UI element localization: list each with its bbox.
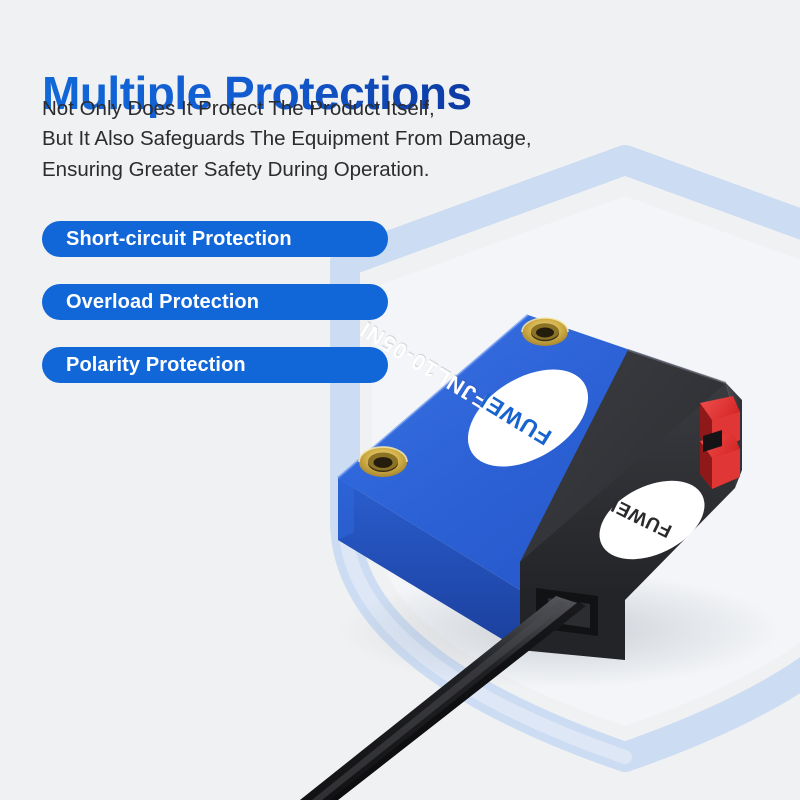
- feature-pill-label: Polarity Protection: [66, 354, 246, 377]
- feature-pill-list: Short-circuit Protection Overload Protec…: [42, 221, 388, 383]
- feature-pill-label: Overload Protection: [66, 291, 259, 314]
- subtitle-line-1: Not Only Does It Protect The Product Its…: [42, 94, 702, 124]
- product-brand-top-label: FUWEI: [475, 386, 557, 450]
- terminal-block-1: [700, 396, 740, 452]
- product-brand-side-label: FUWEI: [607, 493, 675, 541]
- feature-pill-short-circuit[interactable]: Short-circuit Protection: [42, 221, 388, 257]
- terminal-block-2: [700, 430, 740, 489]
- mounting-screw-2: [359, 447, 407, 477]
- subtitle: Not Only Does It Protect The Product Its…: [42, 94, 702, 185]
- product-cable: [300, 596, 586, 800]
- feature-pill-overload[interactable]: Overload Protection: [42, 284, 388, 320]
- product-shadow: [340, 572, 780, 688]
- promo-banner: Multiple Protections Not Only Does It Pr…: [0, 0, 800, 800]
- terminal-block-group: [700, 396, 740, 489]
- mounting-screw-1: [522, 318, 568, 346]
- feature-pill-polarity[interactable]: Polarity Protection: [42, 347, 388, 383]
- feature-pill-label: Short-circuit Protection: [66, 228, 292, 251]
- subtitle-line-3: Ensuring Greater Safety During Operation…: [42, 155, 702, 185]
- product-blue-housing: [338, 315, 718, 650]
- subtitle-line-2: But It Also Safeguards The Equipment Fro…: [42, 124, 702, 154]
